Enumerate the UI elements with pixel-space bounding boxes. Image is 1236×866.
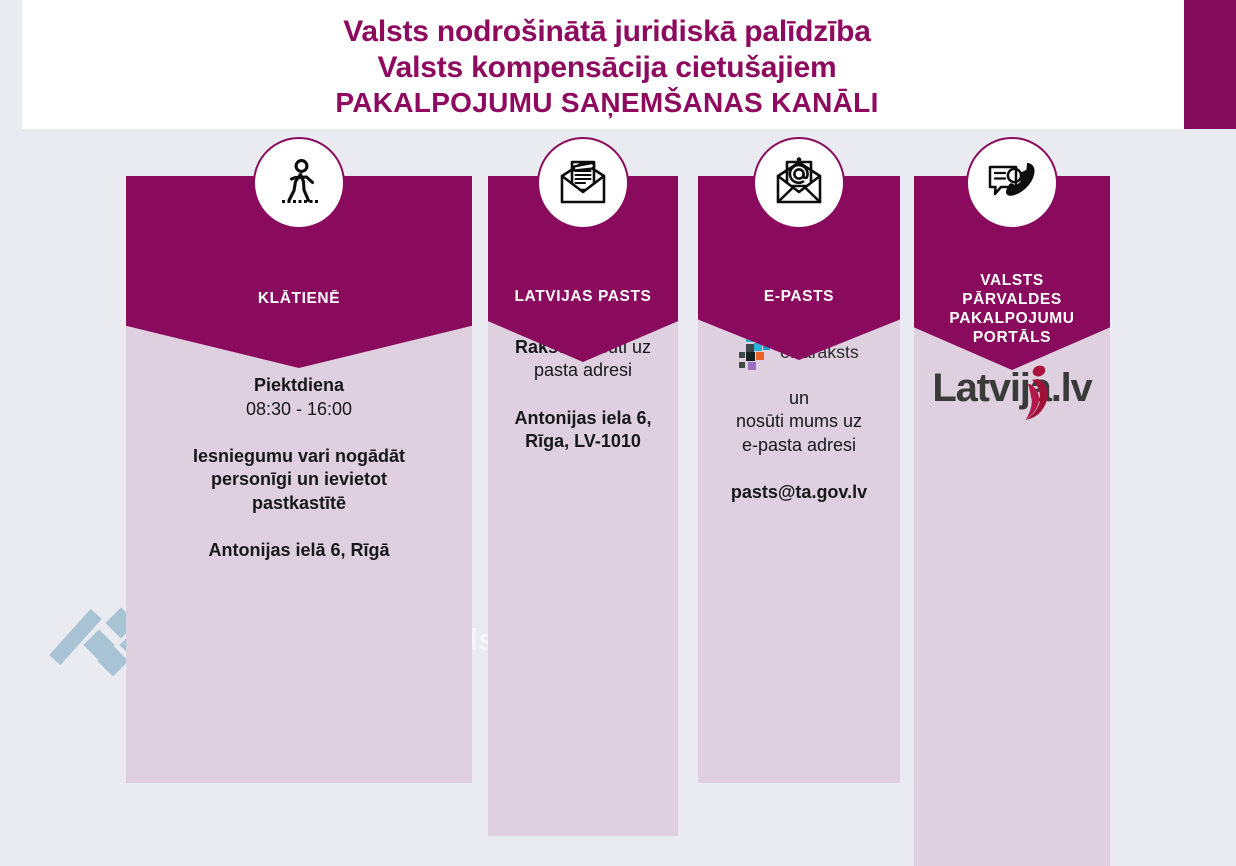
header-line: VALSTS: [914, 272, 1110, 291]
text-line: Rīga, LV-1010: [498, 430, 668, 453]
text-line: un: [706, 387, 892, 410]
text-line: e-pasta adresi: [706, 434, 892, 457]
column-portals[interactable]: Latvija.lv VALSTS PĀRVALDES PAKALPOJUMU …: [914, 129, 1110, 695]
text-line: pasta adresi: [498, 359, 668, 382]
column-header-label: KLĀTIENĒ: [126, 290, 472, 309]
latvija-lv-label: Latvija.lv: [932, 366, 1091, 410]
column-latvijas-pasts[interactable]: Raksti un sūti uz pasta adresi Antonijas…: [488, 129, 678, 695]
envelope-at-sign-icon: [753, 137, 845, 229]
channel-columns: Raiņa bulvārī 15, Rīgā: Pirmdiena - Cetu…: [0, 129, 1236, 695]
text-line: Piektdiena: [140, 374, 458, 397]
email-address[interactable]: pasts@ta.gov.lv: [706, 481, 892, 504]
header-line: PAKALPOJUMU: [914, 310, 1110, 329]
header-line: PĀRVALDES: [914, 291, 1110, 310]
text-line: 08:30 - 16:00: [140, 398, 458, 421]
title-band: Valsts nodrošinātā juridiskā palīdzība V…: [22, 0, 1192, 129]
text-line: Antonijas iela 6,: [498, 407, 668, 430]
latvija-lv-logo[interactable]: Latvija.lv: [932, 366, 1091, 411]
column-e-pasts[interactable]: Aizpildi un paraksti ar drošu: [698, 129, 900, 695]
column-header-label: LATVIJAS PASTS: [488, 288, 678, 307]
title-line-1: Valsts nodrošinātā juridiskā palīdzība: [22, 14, 1192, 50]
title-line-3: PAKALPOJUMU SAŅEMŠANAS KANĀLI: [22, 86, 1192, 120]
column-header-label: E-PASTS: [698, 288, 900, 307]
text-line: Antonijas ielā 6, Rīgā: [140, 539, 458, 562]
title-line-2: Valsts kompensācija cietušajiem: [22, 50, 1192, 86]
latvija-swoosh-icon: [1018, 362, 1064, 426]
text-line: pastkastītē: [140, 492, 458, 515]
column-header-label: VALSTS PĀRVALDES PAKALPOJUMU PORTĀLS: [914, 272, 1110, 348]
text-line: personīgi un ievietot: [140, 468, 458, 491]
speech-bubble-phone-icon: [966, 137, 1058, 229]
slide-canvas: Augšdaugavas novads Valsts nodrošinātā j…: [0, 0, 1236, 695]
column-klatiene[interactable]: Raiņa bulvārī 15, Rīgā: Pirmdiena - Cetu…: [126, 129, 472, 695]
envelope-letter-pencil-icon: [537, 137, 629, 229]
title-accent-bar: [1184, 0, 1236, 129]
text-line: Iesniegumu vari nogādāt: [140, 445, 458, 468]
text-line: nosūti mums uz: [706, 410, 892, 433]
walking-person-icon: [253, 137, 345, 229]
